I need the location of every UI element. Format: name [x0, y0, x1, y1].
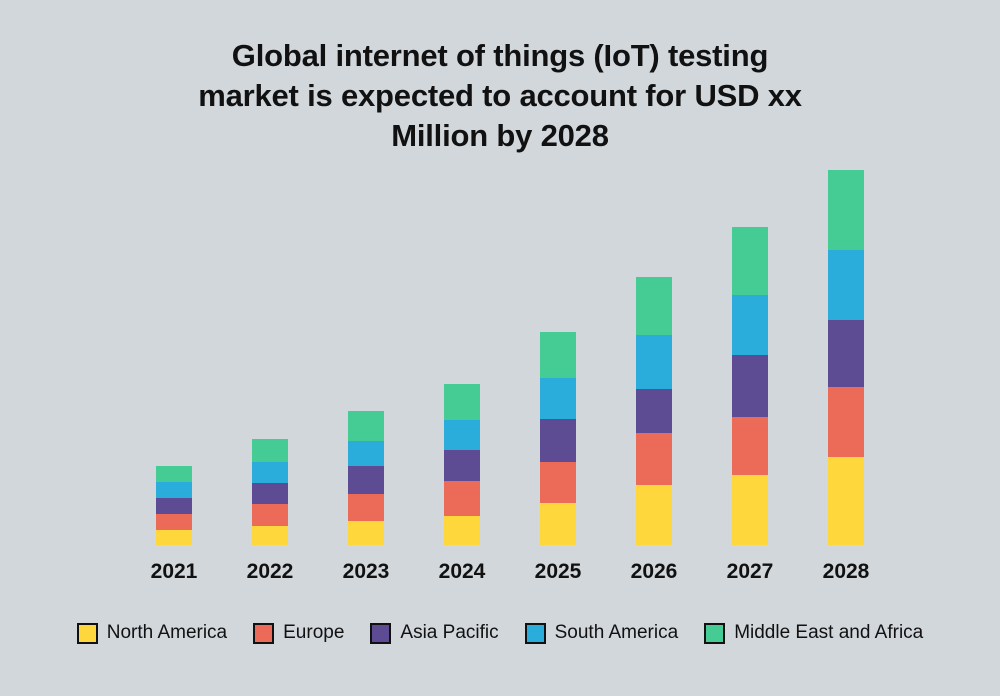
x-tick-label-2026: 2026: [606, 558, 702, 586]
bar-stack: [252, 439, 288, 545]
bar-segment[interactable]: [444, 516, 480, 545]
bar-segment[interactable]: [444, 384, 480, 420]
bar-segment[interactable]: [540, 419, 576, 462]
x-tick-label-2023: 2023: [318, 558, 414, 586]
bar-segment[interactable]: [828, 320, 864, 387]
legend-item-middle-east-and-africa[interactable]: Middle East and Africa: [704, 622, 923, 644]
legend-label: Europe: [283, 622, 344, 644]
legend-swatch-icon: [525, 623, 546, 644]
bar-stack: [732, 227, 768, 545]
bar-segment[interactable]: [732, 417, 768, 475]
bar-stack: [444, 384, 480, 545]
x-tick-label-2028: 2028: [798, 558, 894, 586]
bar-segment[interactable]: [156, 498, 192, 514]
bar-segment[interactable]: [540, 378, 576, 419]
legend-swatch-icon: [704, 623, 725, 644]
bar-segment[interactable]: [348, 521, 384, 545]
bar-segment[interactable]: [156, 514, 192, 530]
bar-segment[interactable]: [636, 433, 672, 485]
bar-group-2021[interactable]: [126, 0, 222, 560]
plot-area: [0, 0, 1000, 560]
chart-legend: North AmericaEuropeAsia PacificSouth Ame…: [0, 622, 1000, 644]
bar-segment[interactable]: [444, 481, 480, 516]
bar-group-2026[interactable]: [606, 0, 702, 560]
bar-group-2028[interactable]: [798, 0, 894, 560]
x-tick-label-2025: 2025: [510, 558, 606, 586]
bar-segment[interactable]: [252, 483, 288, 504]
bar-segment[interactable]: [348, 494, 384, 521]
legend-swatch-icon: [77, 623, 98, 644]
bar-segment[interactable]: [636, 277, 672, 335]
bar-group-2023[interactable]: [318, 0, 414, 560]
bar-stack: [636, 277, 672, 545]
legend-label: North America: [107, 622, 227, 644]
legend-label: Middle East and Africa: [734, 622, 923, 644]
legend-swatch-icon: [253, 623, 274, 644]
bar-segment[interactable]: [348, 411, 384, 441]
chart-root: Global internet of things (IoT) testing …: [0, 0, 1000, 696]
bar-segment[interactable]: [732, 227, 768, 295]
bar-segment[interactable]: [252, 526, 288, 545]
bar-segment[interactable]: [444, 450, 480, 481]
x-tick-label-2021: 2021: [126, 558, 222, 586]
bar-segment[interactable]: [540, 462, 576, 503]
legend-item-europe[interactable]: Europe: [253, 622, 344, 644]
legend-label: South America: [555, 622, 679, 644]
legend-item-south-america[interactable]: South America: [525, 622, 679, 644]
bar-segment[interactable]: [444, 420, 480, 450]
bar-segment[interactable]: [828, 457, 864, 545]
bar-stack: [156, 466, 192, 545]
bar-segment[interactable]: [540, 332, 576, 378]
bar-segment[interactable]: [348, 466, 384, 494]
bar-segment[interactable]: [636, 485, 672, 545]
legend-label: Asia Pacific: [400, 622, 498, 644]
legend-item-north-america[interactable]: North America: [77, 622, 227, 644]
bar-group-2024[interactable]: [414, 0, 510, 560]
x-tick-label-2022: 2022: [222, 558, 318, 586]
bar-segment[interactable]: [156, 466, 192, 482]
x-tick-label-2027: 2027: [702, 558, 798, 586]
bar-group-2027[interactable]: [702, 0, 798, 560]
bar-segment[interactable]: [636, 389, 672, 433]
bar-segment[interactable]: [732, 355, 768, 417]
bar-segment[interactable]: [732, 295, 768, 355]
bar-stack: [540, 332, 576, 545]
bar-stack: [828, 170, 864, 545]
bar-segment[interactable]: [348, 441, 384, 466]
bar-segment[interactable]: [732, 475, 768, 545]
x-tick-label-2024: 2024: [414, 558, 510, 586]
bar-segment[interactable]: [540, 503, 576, 545]
legend-item-asia-pacific[interactable]: Asia Pacific: [370, 622, 498, 644]
x-axis: 20212022202320242025202620272028: [0, 558, 1000, 590]
bar-segment[interactable]: [828, 170, 864, 250]
bar-segment[interactable]: [252, 504, 288, 526]
bar-segment[interactable]: [252, 462, 288, 483]
bar-segment[interactable]: [636, 335, 672, 389]
bar-stack: [348, 411, 384, 545]
bar-segment[interactable]: [828, 250, 864, 320]
bar-segment[interactable]: [252, 439, 288, 462]
bar-segment[interactable]: [156, 482, 192, 498]
legend-swatch-icon: [370, 623, 391, 644]
bar-segment[interactable]: [156, 530, 192, 545]
bar-segment[interactable]: [828, 387, 864, 457]
bar-group-2022[interactable]: [222, 0, 318, 560]
bar-group-2025[interactable]: [510, 0, 606, 560]
